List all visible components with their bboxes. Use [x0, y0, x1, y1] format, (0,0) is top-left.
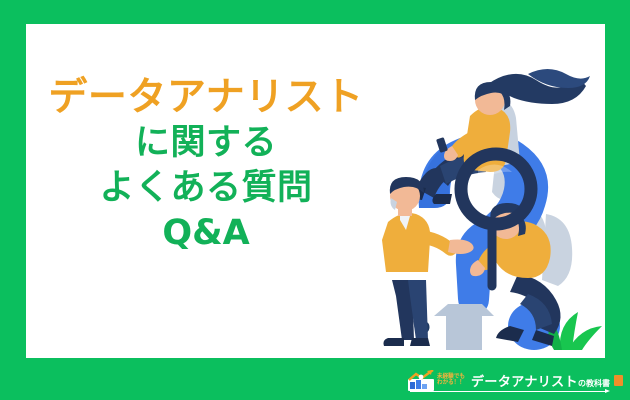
pedestal-shape [434, 304, 494, 350]
logo-name: データアナリストの教科書 [471, 371, 610, 390]
logo-tagline: 未経験でも わかる！！ [437, 374, 467, 387]
chart-logo-icon [408, 370, 434, 391]
question-mark-people-illustration: ? [378, 58, 606, 350]
logo-underline-arrow [410, 391, 606, 392]
logo-badge-icon [614, 375, 623, 386]
title-line-2: に関する [26, 126, 386, 161]
site-logo[interactable]: 未経験でも わかる！！ データアナリストの教科書 [408, 368, 623, 392]
title-line-1: データアナリスト [26, 78, 386, 117]
banner-canvas: データアナリスト に関する よくある質問 Q&A [0, 0, 630, 400]
logo-name-suffix: の教科書 [578, 379, 610, 388]
title-line-3: よくある質問 [26, 171, 386, 206]
logo-name-main: データアナリスト [471, 375, 578, 390]
page-title: データアナリスト に関する よくある質問 Q&A [26, 78, 386, 251]
title-line-4: Q&A [26, 216, 386, 251]
logo-tagline-line-2: わかる！！ [437, 380, 465, 386]
